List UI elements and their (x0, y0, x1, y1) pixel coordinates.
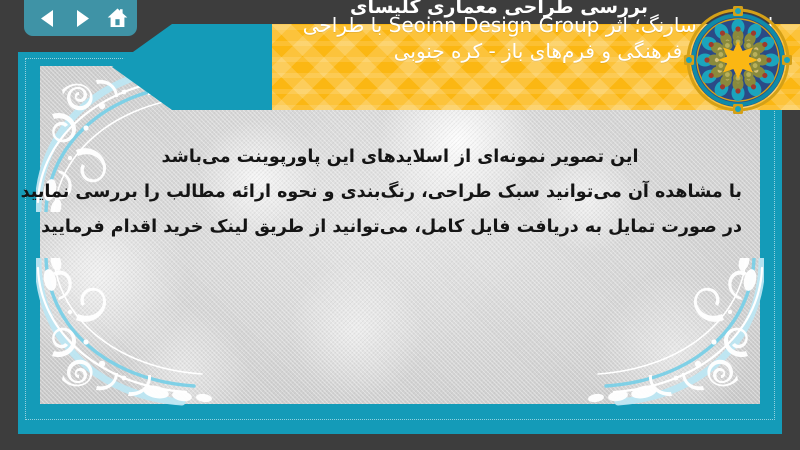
next-button[interactable] (71, 6, 93, 30)
body-line: این تصویر نمونه‌ای از اسلایدهای این پاور… (58, 140, 742, 175)
banner-arrow-shape (112, 24, 284, 110)
triangle-right-icon (75, 9, 90, 28)
triangle-left-icon (40, 9, 55, 28)
mandala-ornament-icon (684, 6, 792, 114)
body-line: با مشاهده آن می‌توانید سبک طراحی، رنگ‌بن… (58, 175, 742, 210)
prev-button[interactable] (36, 6, 58, 30)
slide-viewer: این تصویر نمونه‌ای از اسلایدهای این پاور… (0, 0, 800, 450)
home-button[interactable] (106, 6, 128, 30)
body-line: در صورت تمایل به دریافت فایل کامل، می‌تو… (58, 210, 742, 245)
navigation-toolbar (24, 0, 137, 36)
home-icon (107, 8, 128, 28)
slide-body-text: این تصویر نمونه‌ای از اسلایدهای این پاور… (58, 140, 742, 245)
